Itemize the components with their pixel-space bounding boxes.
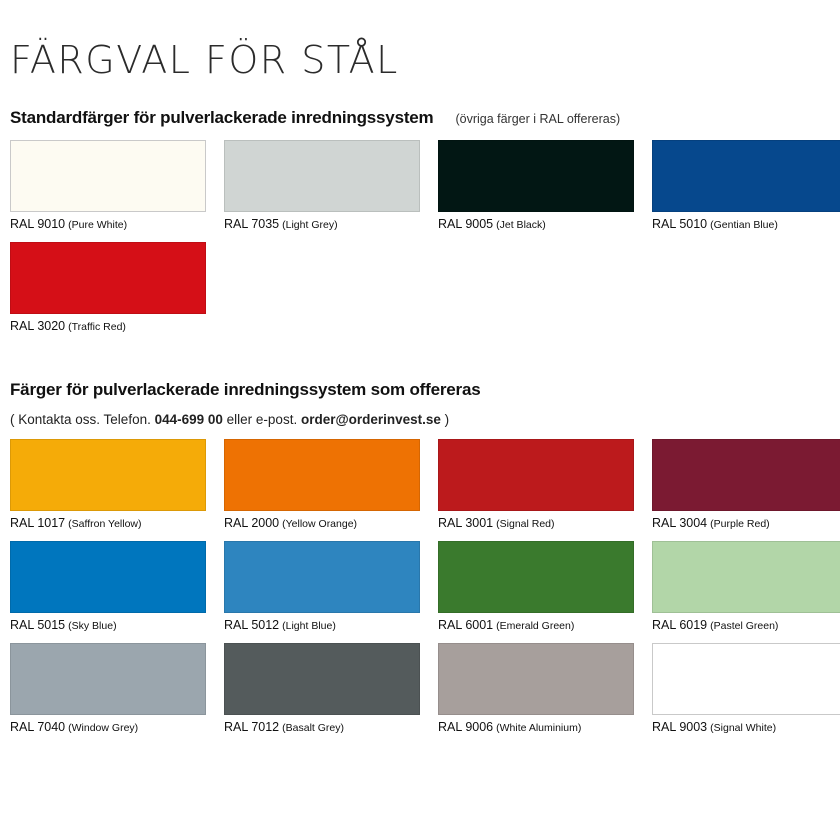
swatch-cell[interactable]: RAL 5015(Sky Blue): [10, 541, 206, 633]
contact-middle: eller e-post.: [223, 412, 301, 427]
swatch-name: (Basalt Grey): [282, 722, 344, 734]
swatch-label: RAL 9010(Pure White): [10, 217, 206, 232]
swatch-name: (Pure White): [68, 219, 127, 231]
swatch-cell[interactable]: RAL 5012(Light Blue): [224, 541, 420, 633]
swatch-code: RAL 7040: [10, 720, 65, 734]
swatch-label: RAL 7035(Light Grey): [224, 217, 420, 232]
swatch-label: RAL 9006(White Aluminium): [438, 720, 634, 735]
swatch-name: (Light Blue): [282, 620, 336, 632]
swatch-cell[interactable]: RAL 7040(Window Grey): [10, 643, 206, 735]
color-swatch-ral-6001[interactable]: [438, 541, 634, 613]
color-swatch-ral-9003[interactable]: [652, 643, 840, 715]
swatch-name: (Emerald Green): [496, 620, 574, 632]
swatch-cell[interactable]: RAL 9005(Jet Black): [438, 140, 634, 232]
swatch-cell[interactable]: RAL 7035(Light Grey): [224, 140, 420, 232]
swatch-code: RAL 9003: [652, 720, 707, 734]
color-swatch-ral-7035[interactable]: [224, 140, 420, 212]
offered-section-title: Färger för pulverlackerade inredningssys…: [10, 380, 480, 400]
swatch-code: RAL 6001: [438, 618, 493, 632]
color-swatch-ral-9010[interactable]: [10, 140, 206, 212]
swatch-name: (Jet Black): [496, 219, 546, 231]
contact-line: ( Kontakta oss. Telefon. 044-699 00 elle…: [10, 412, 830, 427]
swatch-cell[interactable]: RAL 1017(Saffron Yellow): [10, 439, 206, 531]
swatch-code: RAL 5012: [224, 618, 279, 632]
swatch-name: (Pastel Green): [710, 620, 778, 632]
swatch-cell[interactable]: RAL 9003(Signal White): [652, 643, 840, 735]
swatch-label: RAL 1017(Saffron Yellow): [10, 516, 206, 531]
standard-section-note: (övriga färger i RAL offereras): [455, 112, 620, 126]
swatch-code: RAL 1017: [10, 516, 65, 530]
standard-section-header: Standardfärger för pulverlackerade inred…: [10, 108, 830, 128]
swatch-name: (Sky Blue): [68, 620, 116, 632]
swatch-code: RAL 3001: [438, 516, 493, 530]
swatch-cell[interactable]: RAL 6001(Emerald Green): [438, 541, 634, 633]
swatch-code: RAL 7012: [224, 720, 279, 734]
swatch-code: RAL 7035: [224, 217, 279, 231]
swatch-cell[interactable]: RAL 7012(Basalt Grey): [224, 643, 420, 735]
color-swatch-ral-7040[interactable]: [10, 643, 206, 715]
swatch-label: RAL 3020(Traffic Red): [10, 319, 206, 334]
color-swatch-ral-9006[interactable]: [438, 643, 634, 715]
swatch-code: RAL 5010: [652, 217, 707, 231]
color-swatch-ral-5010[interactable]: [652, 140, 840, 212]
color-swatch-ral-5012[interactable]: [224, 541, 420, 613]
contact-prefix: ( Kontakta oss. Telefon.: [10, 412, 155, 427]
swatch-cell[interactable]: RAL 9010(Pure White): [10, 140, 206, 232]
swatch-name: (Yellow Orange): [282, 518, 357, 530]
swatch-cell[interactable]: RAL 3001(Signal Red): [438, 439, 634, 531]
swatch-code: RAL 3020: [10, 319, 65, 333]
swatch-name: (Gentian Blue): [710, 219, 778, 231]
swatch-label: RAL 9005(Jet Black): [438, 217, 634, 232]
swatch-cell[interactable]: RAL 2000(Yellow Orange): [224, 439, 420, 531]
contact-email[interactable]: order@orderinvest.se: [301, 412, 441, 427]
swatch-code: RAL 3004: [652, 516, 707, 530]
color-swatch-ral-3004[interactable]: [652, 439, 840, 511]
swatch-label: RAL 7012(Basalt Grey): [224, 720, 420, 735]
swatch-label: RAL 3004(Purple Red): [652, 516, 840, 531]
offered-section-header: Färger för pulverlackerade inredningssys…: [10, 380, 830, 400]
swatch-name: (Traffic Red): [68, 321, 126, 333]
swatch-label: RAL 5012(Light Blue): [224, 618, 420, 633]
swatch-name: (Light Grey): [282, 219, 337, 231]
swatch-cell[interactable]: RAL 3020(Traffic Red): [10, 242, 206, 334]
swatch-code: RAL 2000: [224, 516, 279, 530]
offered-swatch-grid: RAL 1017(Saffron Yellow)RAL 2000(Yellow …: [10, 439, 830, 735]
swatch-label: RAL 7040(Window Grey): [10, 720, 206, 735]
contact-suffix: ): [441, 412, 449, 427]
swatch-name: (White Aluminium): [496, 722, 581, 734]
color-swatch-ral-6019[interactable]: [652, 541, 840, 613]
swatch-label: RAL 6001(Emerald Green): [438, 618, 634, 633]
swatch-label: RAL 5015(Sky Blue): [10, 618, 206, 633]
swatch-cell[interactable]: RAL 5010(Gentian Blue): [652, 140, 840, 232]
color-swatch-ral-3020[interactable]: [10, 242, 206, 314]
color-swatch-ral-3001[interactable]: [438, 439, 634, 511]
swatch-code: RAL 9006: [438, 720, 493, 734]
swatch-label: RAL 2000(Yellow Orange): [224, 516, 420, 531]
swatch-name: (Window Grey): [68, 722, 138, 734]
swatch-code: RAL 6019: [652, 618, 707, 632]
color-swatch-ral-2000[interactable]: [224, 439, 420, 511]
swatch-cell[interactable]: RAL 6019(Pastel Green): [652, 541, 840, 633]
swatch-label: RAL 5010(Gentian Blue): [652, 217, 840, 232]
color-swatch-ral-9005[interactable]: [438, 140, 634, 212]
swatch-cell[interactable]: RAL 3004(Purple Red): [652, 439, 840, 531]
color-chart-page: FÄRGVAL FÖR STÅL Standardfärger för pulv…: [0, 0, 840, 840]
swatch-label: RAL 9003(Signal White): [652, 720, 840, 735]
page-title: FÄRGVAL FÖR STÅL: [10, 0, 830, 82]
color-swatch-ral-7012[interactable]: [224, 643, 420, 715]
swatch-cell[interactable]: RAL 9006(White Aluminium): [438, 643, 634, 735]
swatch-code: RAL 9005: [438, 217, 493, 231]
swatch-code: RAL 9010: [10, 217, 65, 231]
swatch-name: (Saffron Yellow): [68, 518, 141, 530]
swatch-name: (Signal Red): [496, 518, 554, 530]
swatch-name: (Signal White): [710, 722, 776, 734]
contact-phone[interactable]: 044-699 00: [155, 412, 223, 427]
standard-section-title: Standardfärger för pulverlackerade inred…: [10, 108, 433, 128]
swatch-code: RAL 5015: [10, 618, 65, 632]
standard-colors-section: Standardfärger för pulverlackerade inred…: [10, 108, 830, 334]
standard-swatch-grid: RAL 9010(Pure White)RAL 7035(Light Grey)…: [10, 140, 830, 334]
swatch-label: RAL 3001(Signal Red): [438, 516, 634, 531]
color-swatch-ral-5015[interactable]: [10, 541, 206, 613]
swatch-name: (Purple Red): [710, 518, 770, 530]
swatch-label: RAL 6019(Pastel Green): [652, 618, 840, 633]
offered-colors-section: Färger för pulverlackerade inredningssys…: [10, 380, 830, 735]
color-swatch-ral-1017[interactable]: [10, 439, 206, 511]
